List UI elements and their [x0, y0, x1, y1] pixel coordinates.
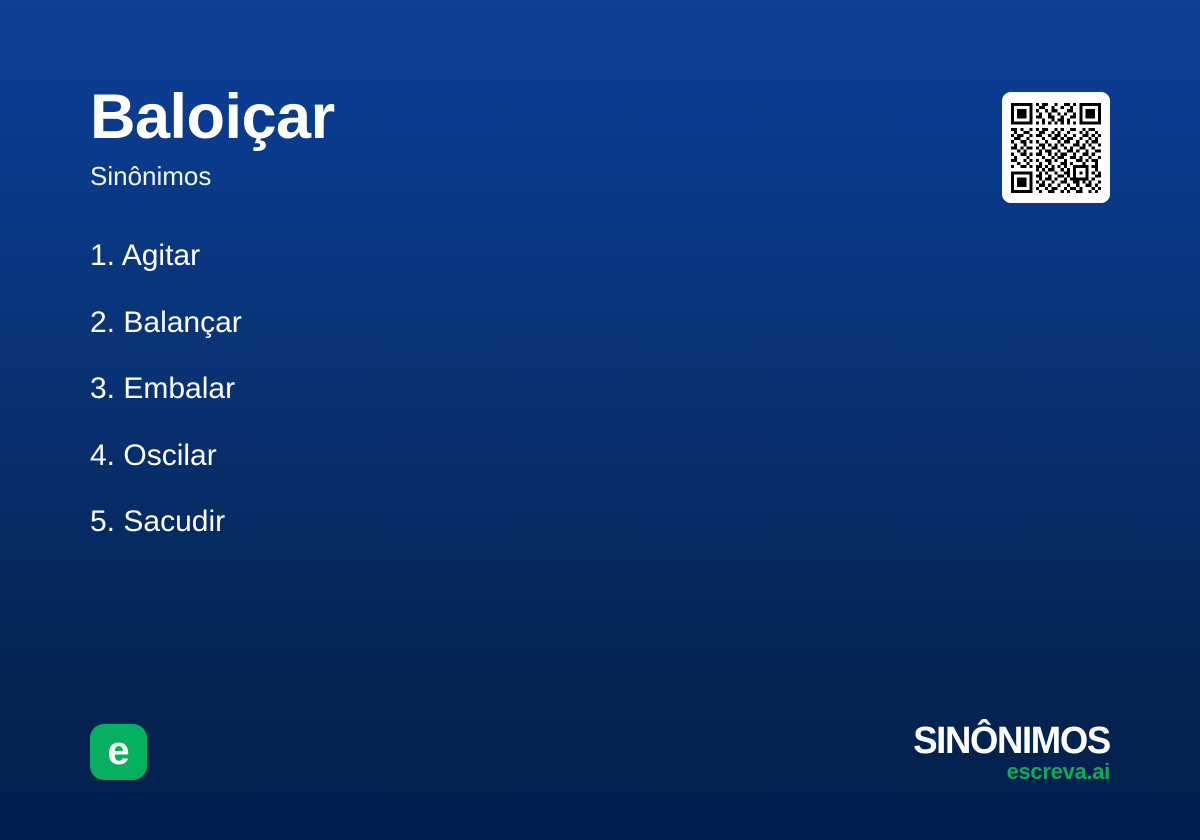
list-item: 2. Balançar [90, 305, 850, 341]
list-item: 4. Oscilar [90, 438, 850, 474]
header: Baloiçar Sinônimos [90, 86, 930, 189]
escreva-badge-icon[interactable]: e [90, 724, 147, 780]
footer-logo-title: SINÔNIMOS [913, 722, 1110, 760]
qr-code-panel[interactable] [1002, 92, 1110, 203]
list-item-label: Sacudir [123, 505, 225, 538]
footer-logo[interactable]: SINÔNIMOS escreva.ai [905, 722, 1110, 783]
footer-logo-domain: escreva.ai [905, 761, 1110, 783]
list-item: 3. Embalar [90, 371, 850, 407]
list-item-number: 2. [90, 306, 115, 339]
list-item-number: 5. [90, 505, 115, 538]
list-item-number: 1. [90, 239, 115, 272]
page-subtitle: Sinônimos [90, 163, 930, 189]
list-item: 1. Agitar [90, 238, 850, 274]
brand-badge-letter: e [107, 731, 129, 771]
list-item-label: Oscilar [123, 439, 216, 472]
synonym-card: Baloiçar Sinônimos 1. Agitar 2. Balançar… [0, 0, 1200, 840]
list-item: 5. Sacudir [90, 504, 850, 540]
list-item-number: 4. [90, 439, 115, 472]
list-item-label: Agitar [122, 239, 200, 272]
list-item-label: Balançar [123, 306, 241, 339]
synonym-list: 1. Agitar 2. Balançar 3. Embalar 4. Osci… [90, 238, 850, 571]
page-title: Baloiçar [90, 86, 930, 149]
qr-code-icon [1011, 103, 1101, 193]
list-item-number: 3. [90, 372, 115, 405]
list-item-label: Embalar [123, 372, 235, 405]
